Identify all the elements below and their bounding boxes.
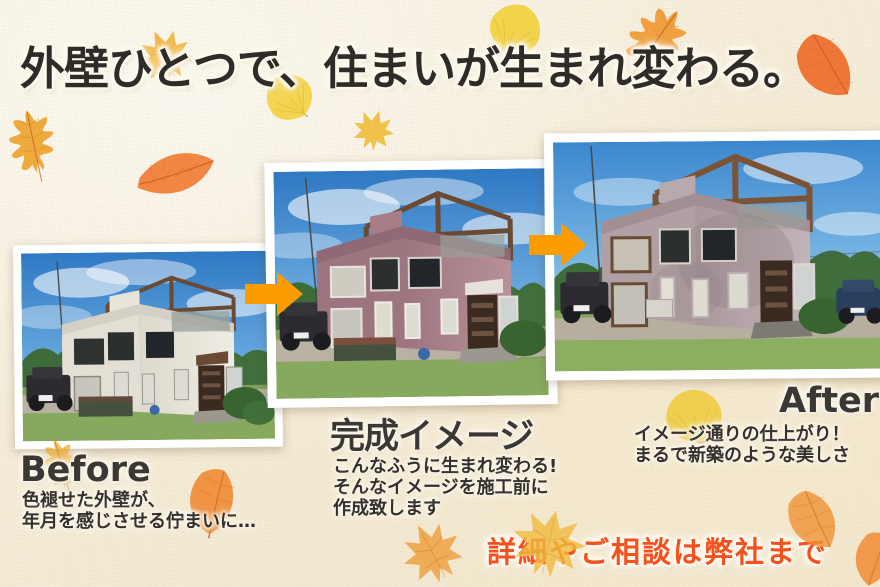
leaf-elm-far-right xyxy=(834,520,880,587)
photo-after[interactable] xyxy=(544,130,880,380)
page-title: 外壁ひとつで、住まいが生まれ変わる。 xyxy=(20,32,807,97)
leaf-oak-top-left xyxy=(0,101,69,189)
leaf-maple-mid-c xyxy=(347,103,401,157)
caption-body-before: 色褪せた外壁が、 年月を感じさせる佇まいに… xyxy=(22,490,256,532)
caption-heading-before: Before xyxy=(20,450,151,490)
caption-heading-after: After xyxy=(779,381,879,421)
right-arrow-icon xyxy=(529,223,587,267)
photo-image[interactable] xyxy=(264,159,557,408)
caption-body-after: イメージ通りの仕上がり！ まるで新築のような美しさ xyxy=(634,424,850,466)
poster-canvas: 外壁ひとつで、住まいが生まれ変わる。 Before 色褪せた外壁が、 年月を感じ… xyxy=(0,0,880,587)
photo-image-image xyxy=(273,168,548,399)
photo-after-image xyxy=(553,140,880,372)
arrow-before-to-image xyxy=(243,268,305,320)
arrow-image-to-after xyxy=(527,219,589,271)
cta-text[interactable]: 詳細やご相談は弊社まで xyxy=(487,529,828,571)
leaf-elm-mid-left xyxy=(132,130,221,215)
leaf-maple-bottom-c xyxy=(389,509,476,587)
caption-body-image: こんなふうに生まれ変わる! そんなイメージを施工前に 作成致します xyxy=(333,456,557,520)
right-arrow-icon xyxy=(245,272,303,316)
caption-heading-image: 完成イメージ xyxy=(330,408,533,459)
photo-before-image xyxy=(21,251,275,442)
